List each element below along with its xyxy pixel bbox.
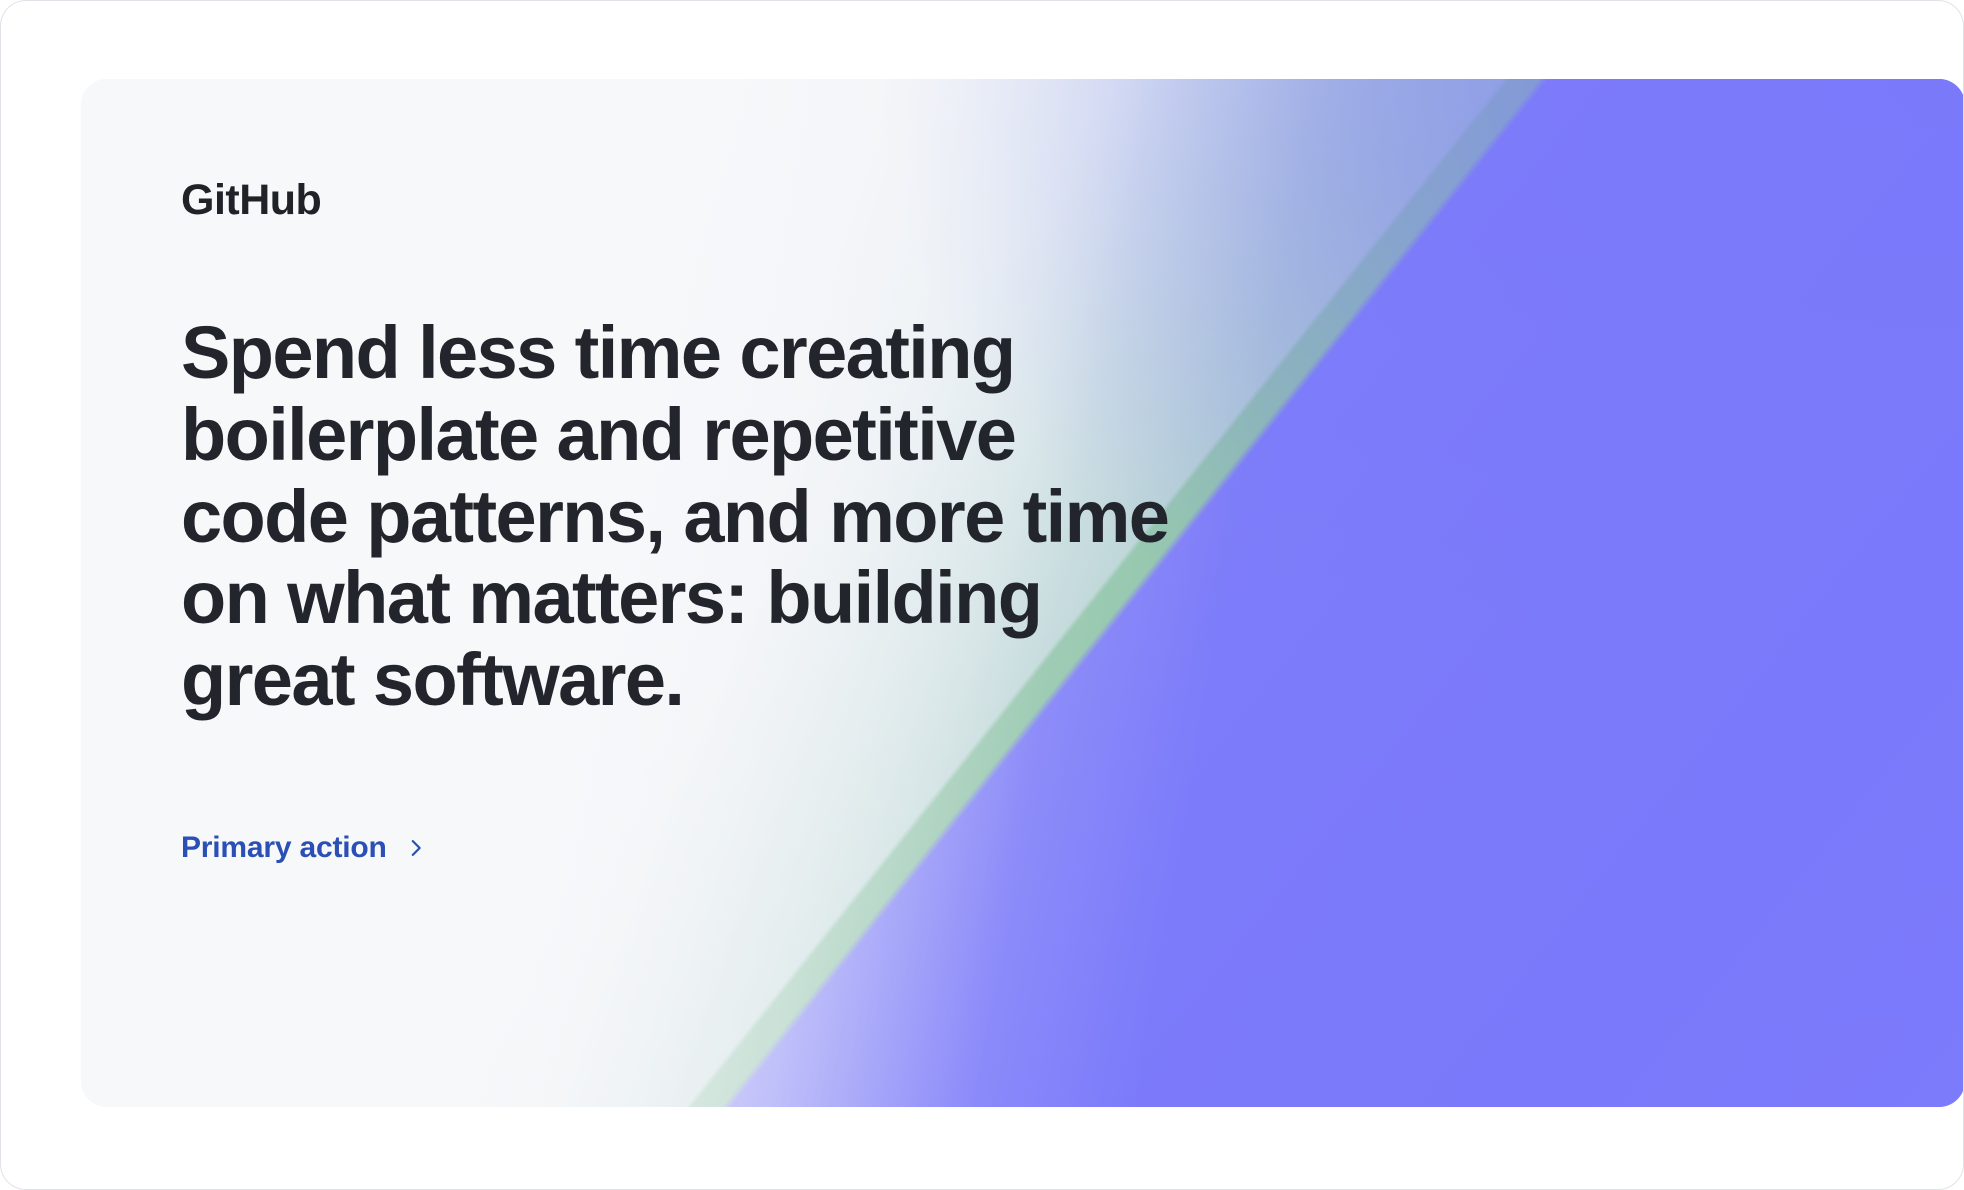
primary-action-link[interactable]: Primary action bbox=[181, 831, 427, 865]
browser-viewport: GitHub Spend less time creating boilerpl… bbox=[0, 0, 1964, 1190]
github-wordmark: GitHub bbox=[181, 179, 1201, 222]
hero-content: GitHub Spend less time creating boilerpl… bbox=[81, 79, 1201, 865]
hero-heading: Spend less time creating boilerplate and… bbox=[181, 312, 1171, 721]
hero-card: GitHub Spend less time creating boilerpl… bbox=[81, 79, 1964, 1107]
primary-action-label: Primary action bbox=[181, 831, 387, 865]
chevron-right-icon bbox=[405, 837, 427, 859]
